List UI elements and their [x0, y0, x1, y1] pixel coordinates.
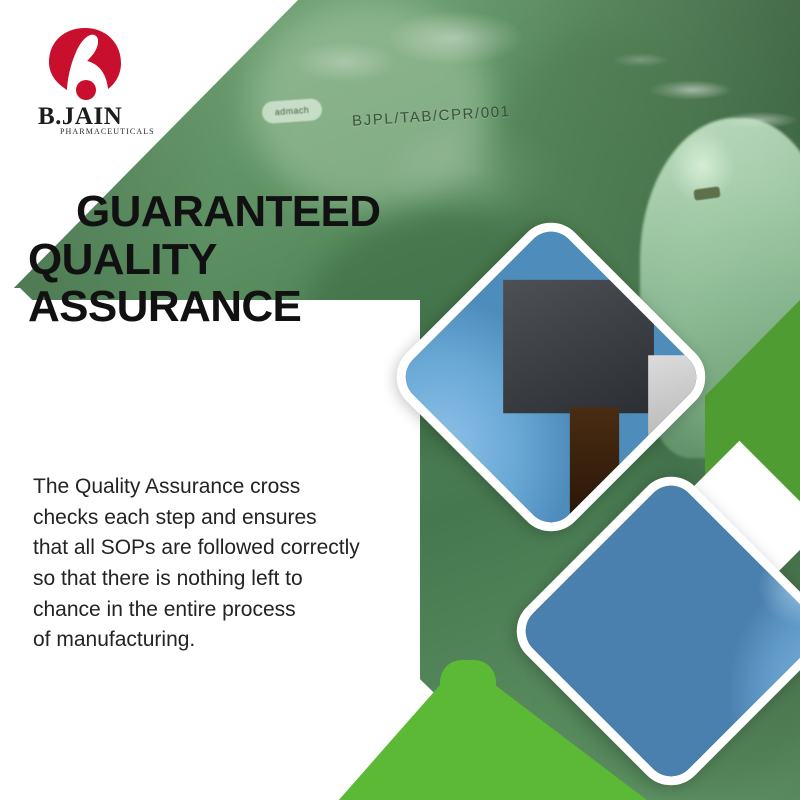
brand-logo: B.JAIN PHARMACEUTICALS [38, 28, 154, 140]
body-line-1: The Quality Assurance cross [33, 472, 433, 503]
body-line-4: so that there is nothing left to [33, 564, 433, 595]
logo-dot-icon [76, 80, 96, 100]
machine-badge: admach [261, 98, 322, 124]
headline-line-1: GUARANTEED [76, 188, 428, 236]
page-headline: GUARANTEED QUALITY ASSURANCE [28, 188, 428, 331]
bjain-circle-logo-icon [46, 28, 124, 102]
body-line-6: of manufacturing. [33, 625, 433, 656]
body-line-5: chance in the entire process [33, 595, 433, 626]
brand-name: B.JAIN [38, 104, 154, 129]
brand-tagline: PHARMACEUTICALS [60, 128, 156, 136]
headline-line-2: QUALITY ASSURANCE [28, 236, 428, 331]
green-accent-triangle-cap [440, 660, 496, 700]
body-line-3: that all SOPs are followed correctly [33, 533, 433, 564]
body-line-2: checks each step and ensures [33, 503, 433, 534]
poster-canvas: admach BJPL/TAB/CPR/001 B.JAIN PHARMACEU… [0, 0, 800, 800]
body-paragraph: The Quality Assurance cross checks each … [33, 472, 433, 656]
